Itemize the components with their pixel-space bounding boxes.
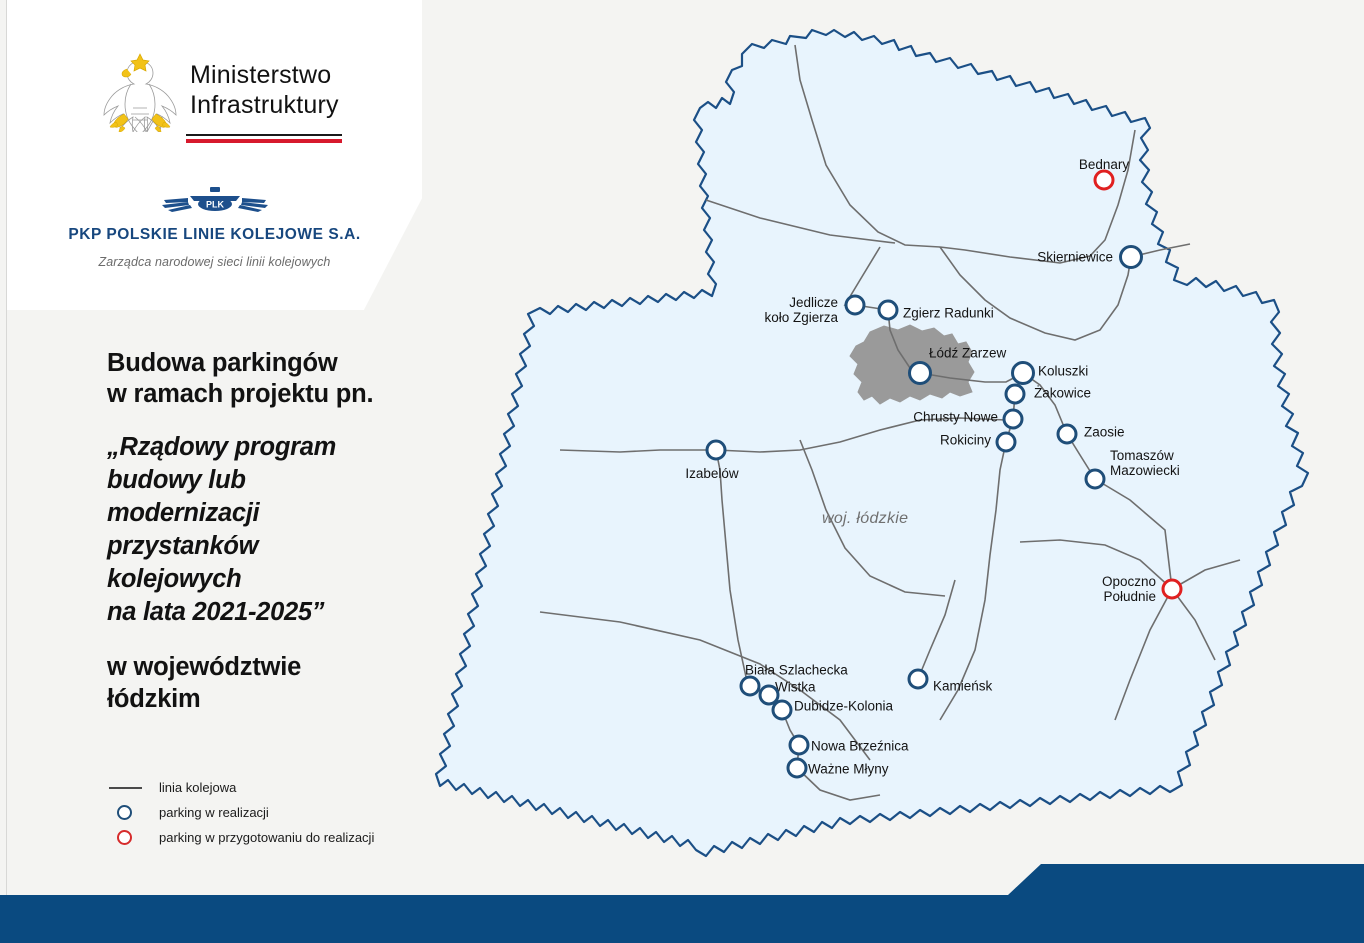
poster-title: Budowa parkingów w ramach projektu pn. „…: [107, 348, 467, 715]
ministry-line-1: Ministerstwo: [190, 60, 339, 90]
legend-key-line: [107, 787, 159, 789]
map-label-line: Skierniewice: [1037, 250, 1113, 265]
map-label-line: Koluszki: [1038, 364, 1088, 379]
map-label-line: Ważne Młyny: [808, 762, 889, 777]
logo-card: Ministerstwo Infrastruktury: [7, 0, 422, 310]
legend-key-circle: [107, 805, 159, 820]
legend-item-parking-in-progress: parking w realizacji: [107, 800, 374, 825]
ministry-flag-rule: [186, 134, 342, 143]
map-label-wa-ne-m-yny: Ważne Młyny: [808, 762, 889, 777]
map-marker--d-zarzew[interactable]: [908, 361, 932, 385]
plk-winged-wheel-icon: PLK: [160, 185, 270, 217]
map-marker--akowice[interactable]: [1005, 384, 1026, 405]
quote-line-2: budowy lub: [107, 464, 467, 497]
legend-item-parking-in-preparation: parking w przygotowaniu do realizacji: [107, 825, 374, 850]
rail-line-swatch-icon: [109, 787, 142, 789]
red-circle-icon: [117, 830, 132, 845]
legend-item-rail-line: linia kolejowa: [107, 775, 374, 800]
map-label-line: Nowa Brzeźnica: [811, 739, 909, 754]
map-label-line: Jedlicze: [764, 295, 838, 310]
map-label-izabel-w: Izabelów: [685, 466, 738, 481]
ministry-name: Ministerstwo Infrastruktury: [190, 60, 339, 120]
map-label-line: Wistka: [775, 680, 816, 695]
map-label-line: Rokiciny: [940, 433, 991, 448]
quote-line-1: „Rządowy program: [107, 431, 467, 464]
map-label-line: Kamieńsk: [933, 679, 992, 694]
title-main-line-2: w ramach projektu pn.: [107, 379, 467, 410]
plk-logo: PLK PKP POLSKIE LINIE KOLEJOWE S.A. Zarz…: [7, 185, 422, 269]
polish-eagle-icon: [100, 48, 180, 132]
ministry-line-2: Infrastruktury: [190, 90, 339, 120]
legend-label: parking w realizacji: [159, 805, 269, 820]
map-label-line: koło Zgierza: [764, 310, 838, 325]
map-marker-nowa-brze-nica[interactable]: [789, 735, 810, 756]
map-label-kamie-sk: Kamieńsk: [933, 679, 992, 694]
map-label-chrusty-nowe: Chrusty Nowe: [913, 410, 998, 425]
map-marker-rokiciny[interactable]: [996, 432, 1017, 453]
map-label-koluszki: Koluszki: [1038, 364, 1088, 379]
plk-company-name: PKP POLSKIE LINIE KOLEJOWE S.A.: [7, 226, 422, 244]
legend-label: linia kolejowa: [159, 780, 236, 795]
region-line-2: łódzkim: [107, 683, 467, 715]
quote-line-3: modernizacji: [107, 497, 467, 530]
map-label-line: Łódź Zarzew: [929, 346, 1006, 361]
map-label-line: Dubidze-Kolonia: [794, 699, 893, 714]
map-label-line: Opoczno: [1102, 574, 1156, 589]
map-label-skierniewice: Skierniewice: [1037, 250, 1113, 265]
map-label-tomasz-w-mazowiecki: TomaszówMazowiecki: [1110, 448, 1180, 478]
title-program-quote: „Rządowy program budowy lub modernizacji…: [107, 431, 467, 629]
map-marker-bednary[interactable]: [1094, 170, 1115, 191]
legend-label: parking w przygotowaniu do realizacji: [159, 830, 374, 845]
map-marker-izabel-w[interactable]: [706, 440, 727, 461]
map-marker-bia-a-szlachecka[interactable]: [740, 676, 761, 697]
map-label-line: Południe: [1102, 589, 1156, 604]
map-marker-opoczno-po-udnie[interactable]: [1162, 579, 1183, 600]
map-label-zaosie: Zaosie: [1084, 425, 1125, 440]
region-label: woj. łódzkie: [822, 510, 908, 528]
blue-circle-icon: [117, 805, 132, 820]
map-label-nowa-brze-nica: Nowa Brzeźnica: [811, 739, 909, 754]
title-region: w województwie łódzkim: [107, 651, 467, 715]
quote-line-4: przystanków: [107, 530, 467, 563]
svg-text:PLK: PLK: [206, 200, 225, 210]
plk-subtitle: Zarządca narodowej sieci linii kolejowyc…: [7, 255, 422, 269]
quote-line-6: na lata 2021-2025”: [107, 596, 467, 629]
title-main-line-1: Budowa parkingów: [107, 348, 467, 379]
lodzkie-border-shape: [436, 30, 1308, 856]
map-label-line: Zgierz Radunki: [903, 306, 994, 321]
map-marker-kamie-sk[interactable]: [908, 669, 929, 690]
map-label-line: Chrusty Nowe: [913, 410, 998, 425]
title-main: Budowa parkingów w ramach projektu pn.: [107, 348, 467, 410]
quote-line-5: kolejowych: [107, 563, 467, 596]
map-label--d-zarzew: Łódź Zarzew: [929, 346, 1006, 361]
ministry-logo: Ministerstwo Infrastruktury: [100, 48, 339, 132]
map-marker-skierniewice[interactable]: [1119, 245, 1143, 269]
legend-key-circle: [107, 830, 159, 845]
map-marker-wa-ne-m-yny[interactable]: [787, 758, 808, 779]
map-marker-zaosie[interactable]: [1057, 424, 1078, 445]
region-line-1: w województwie: [107, 651, 467, 683]
map-label-line: Mazowiecki: [1110, 463, 1180, 478]
map-label-zgierz-radunki: Zgierz Radunki: [903, 306, 994, 321]
map-label-line: Biała Szlachecka: [745, 663, 848, 678]
map-marker-tomasz-w-mazowiecki[interactable]: [1085, 469, 1106, 490]
map-marker-koluszki[interactable]: [1011, 361, 1035, 385]
map-marker-dubidze-kolonia[interactable]: [772, 700, 793, 721]
map-label-opoczno-po-udnie: OpocznoPołudnie: [1102, 574, 1156, 604]
map-marker-chrusty-nowe[interactable]: [1003, 409, 1024, 430]
map-label-line: Żakowice: [1034, 386, 1091, 401]
map-label-bia-a-szlachecka: Biała Szlachecka: [745, 663, 848, 678]
map-label-rokiciny: Rokiciny: [940, 433, 991, 448]
map-label-line: Izabelów: [685, 466, 738, 481]
map-label-line: Tomaszów: [1110, 448, 1180, 463]
map-label-wistka: Wistka: [775, 680, 816, 695]
map-label-line: Zaosie: [1084, 425, 1125, 440]
map-marker-jedlicze-ko-o-zgierza[interactable]: [845, 295, 866, 316]
map-label-dubidze-kolonia: Dubidze-Kolonia: [794, 699, 893, 714]
map-label-jedlicze-ko-o-zgierza: Jedliczekoło Zgierza: [764, 295, 838, 325]
map-marker-zgierz-radunki[interactable]: [878, 300, 899, 321]
map-label--akowice: Żakowice: [1034, 386, 1091, 401]
poster-canvas: BednarySkierniewiceJedliczekoło ZgierzaZ…: [0, 0, 1364, 943]
map-legend: linia kolejowaparking w realizacjiparkin…: [107, 775, 374, 850]
